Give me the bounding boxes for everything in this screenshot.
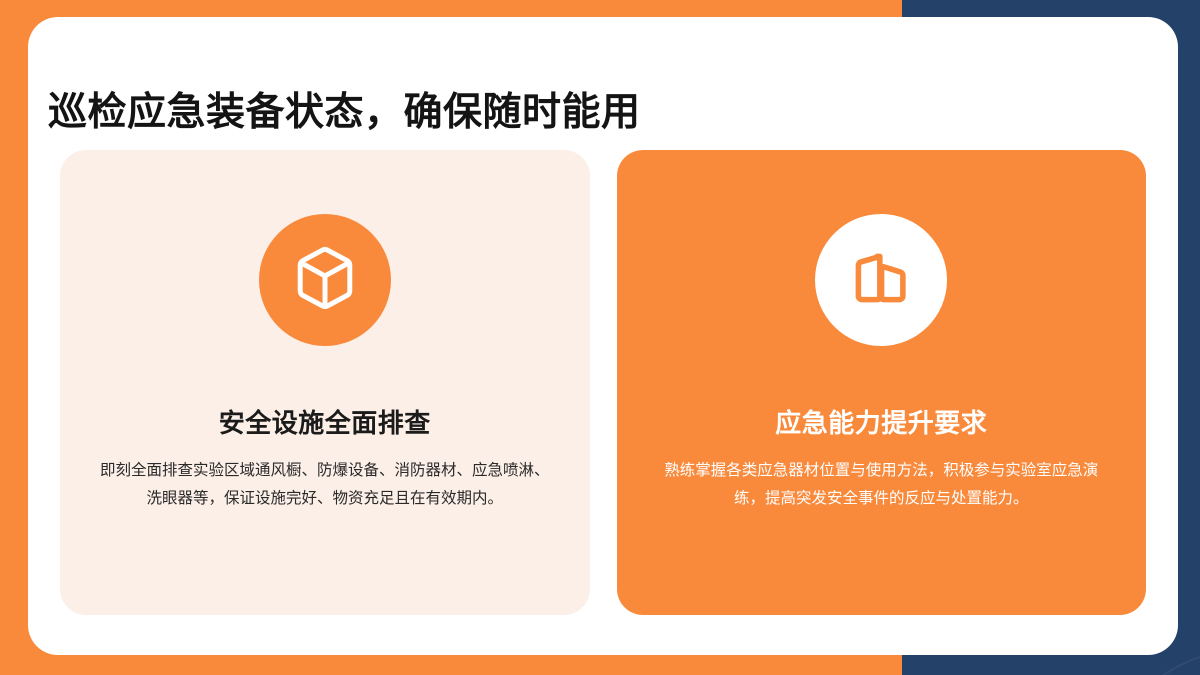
page-title: 巡检应急装备状态，确保随时能用 [48, 81, 641, 137]
card-heading: 应急能力提升要求 [775, 403, 987, 440]
card-heading: 安全设施全面排查 [219, 403, 431, 440]
buildings-icon-badge [815, 214, 947, 346]
slide-root: 巡检应急装备状态，确保随时能用 安全设施全面排查 即刻全面排查实验区域通风橱、防… [0, 0, 1200, 675]
card-safety-inspection[interactable]: 安全设施全面排查 即刻全面排查实验区域通风橱、防爆设备、消防器材、应急喷淋、洗眼… [60, 150, 590, 615]
cube-icon-badge [259, 214, 391, 346]
card-body-text: 熟练掌握各类应急器材位置与使用方法，积极参与实验室应急演练，提高突发安全事件的反… [651, 457, 1113, 513]
card-emergency-capability[interactable]: 应急能力提升要求 熟练掌握各类应急器材位置与使用方法，积极参与实验室应急演练，提… [617, 150, 1147, 615]
content-panel: 巡检应急装备状态，确保随时能用 安全设施全面排查 即刻全面排查实验区域通风橱、防… [28, 17, 1178, 655]
card-body-text: 即刻全面排查实验区域通风橱、防爆设备、消防器材、应急喷淋、洗眼器等，保证设施完好… [94, 457, 556, 513]
buildings-icon [846, 243, 916, 318]
cube-icon [290, 243, 360, 318]
cards-row: 安全设施全面排查 即刻全面排查实验区域通风橱、防爆设备、消防器材、应急喷淋、洗眼… [60, 150, 1146, 615]
